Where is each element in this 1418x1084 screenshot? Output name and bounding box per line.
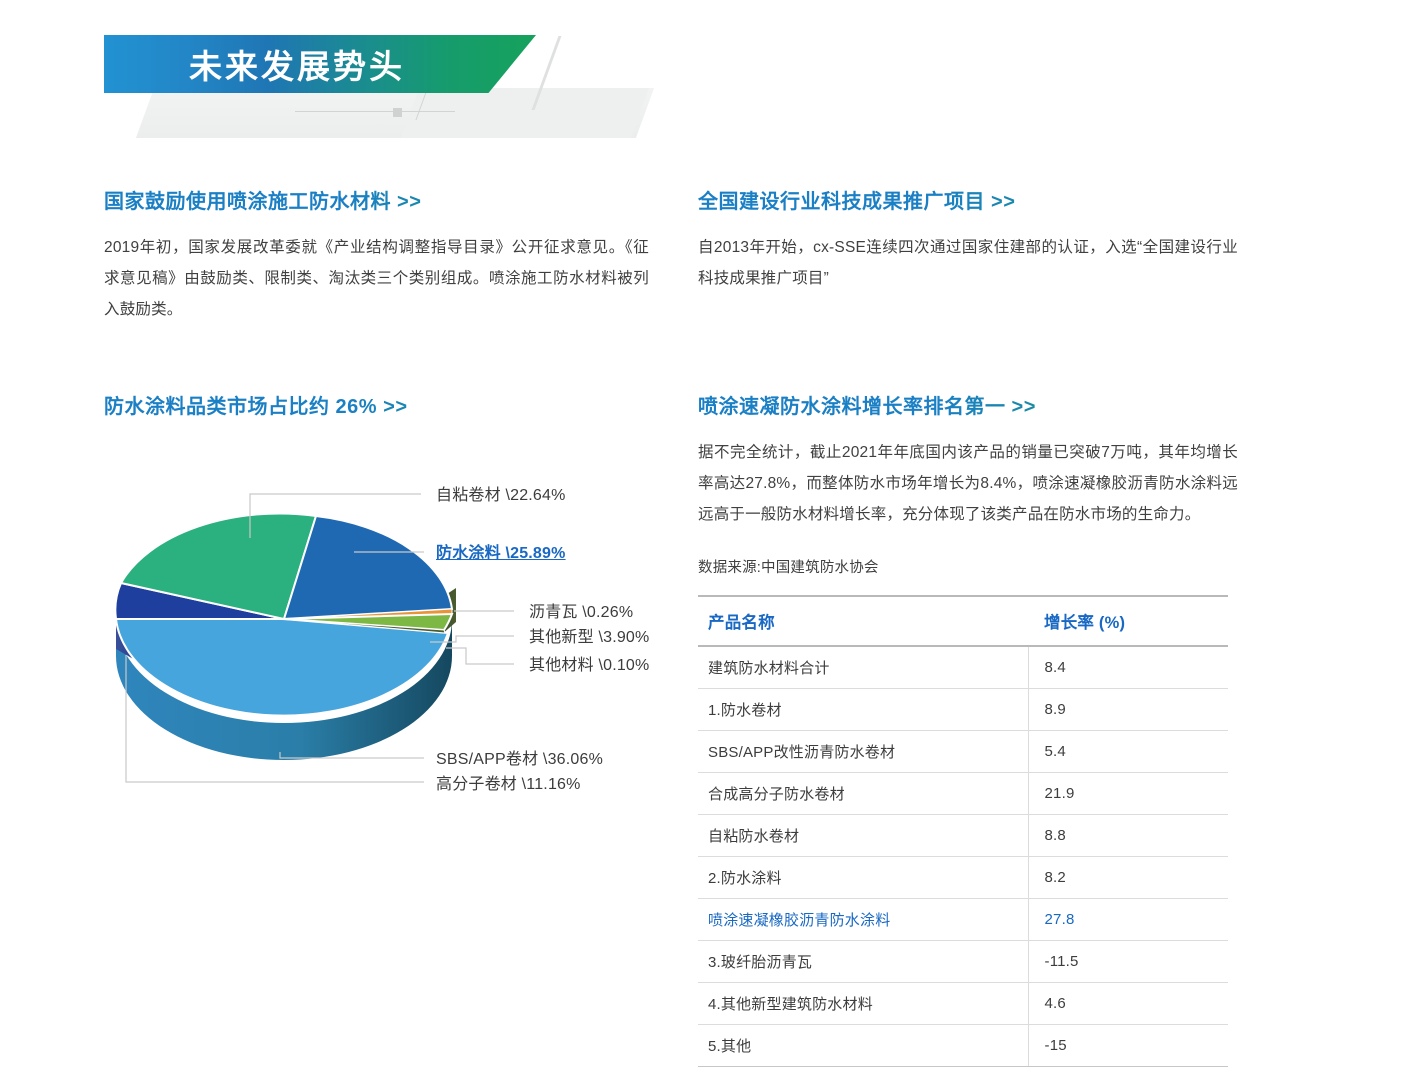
section-title-promotion-program[interactable]: 全国建设行业科技成果推广项目 >> <box>698 185 1238 214</box>
section-title-national-encouragement[interactable]: 国家鼓励使用喷涂施工防水材料 >> <box>104 185 649 214</box>
section-title-market-share[interactable]: 防水涂料品类市场占比约 26% >> <box>104 390 649 419</box>
cell-growth-rate: -11.5 <box>1028 941 1228 983</box>
cell-growth-rate: 8.4 <box>1028 646 1228 689</box>
table-row: 合成高分子防水卷材 21.9 <box>698 773 1228 815</box>
page-header-banner: 未来发展势头 <box>0 0 1418 160</box>
table-body: 建筑防水材料合计 8.4 1.防水卷材 8.9 SBS/APP改性沥青防水卷材 … <box>698 646 1228 1067</box>
cell-growth-rate: 21.9 <box>1028 773 1228 815</box>
banner-backdrop-shape-secondary <box>401 88 649 138</box>
leader-line-other-material <box>446 648 514 664</box>
cell-growth-rate: 5.4 <box>1028 731 1228 773</box>
banner-decor-line <box>295 111 455 112</box>
table-row: 4.其他新型建筑防水材料 4.6 <box>698 983 1228 1025</box>
pie-label-other-new: 其他新型 \3.90% <box>529 623 649 647</box>
section-market-share: 防水涂料品类市场占比约 26% >> <box>104 390 649 419</box>
growth-rate-table: 产品名称 增长率 (%) 建筑防水材料合计 8.4 1.防水卷材 8.9 SBS… <box>698 595 1228 1067</box>
cell-product-name: 合成高分子防水卷材 <box>698 773 1028 815</box>
section-title-growth-rate-ranking[interactable]: 喷涂速凝防水涂料增长率排名第一 >> <box>698 390 1238 419</box>
table-header-growth-rate: 增长率 (%) <box>1028 596 1228 646</box>
cell-growth-rate: 4.6 <box>1028 983 1228 1025</box>
section-body-growth-rate-ranking: 据不完全统计，截止2021年年底国内该产品的销量已突破7万吨，其年均增长率高达2… <box>698 437 1238 530</box>
table-row: 5.其他 -15 <box>698 1025 1228 1067</box>
table-row: 1.防水卷材 8.9 <box>698 689 1228 731</box>
table-header-row: 产品名称 增长率 (%) <box>698 596 1228 646</box>
table-row: 2.防水涂料 8.2 <box>698 857 1228 899</box>
page-title: 未来发展势头 <box>104 35 536 93</box>
cell-product-name: 建筑防水材料合计 <box>698 646 1028 689</box>
table-row: 建筑防水材料合计 8.4 <box>698 646 1228 689</box>
cell-product-name: 1.防水卷材 <box>698 689 1028 731</box>
table-row: 3.玻纤胎沥青瓦 -11.5 <box>698 941 1228 983</box>
table-row-highlighted: 喷涂速凝橡胶沥青防水涂料 27.8 <box>698 899 1228 941</box>
banner-decor-square <box>393 108 402 117</box>
section-national-promotion-program: 全国建设行业科技成果推广项目 >> 自2013年开始，cx-SSE连续四次通过国… <box>698 185 1238 294</box>
table-header-product-name: 产品名称 <box>698 596 1028 646</box>
section-national-encouragement: 国家鼓励使用喷涂施工防水材料 >> 2019年初，国家发展改革委就《产业结构调整… <box>104 185 649 325</box>
cell-growth-rate: 27.8 <box>1028 899 1228 941</box>
cell-growth-rate: 8.8 <box>1028 815 1228 857</box>
section-body-promotion-program: 自2013年开始，cx-SSE连续四次通过国家住建部的认证，入选“全国建设行业科… <box>698 232 1238 294</box>
table-row: SBS/APP改性沥青防水卷材 5.4 <box>698 731 1228 773</box>
pie-label-polymer: 高分子卷材 \11.16% <box>436 770 581 794</box>
cell-growth-rate: -15 <box>1028 1025 1228 1067</box>
section-growth-rate-ranking: 喷涂速凝防水涂料增长率排名第一 >> 据不完全统计，截止2021年年底国内该产品… <box>698 390 1238 1067</box>
cell-product-name: 4.其他新型建筑防水材料 <box>698 983 1028 1025</box>
pie-label-self-adhesive: 自粘卷材 \22.64% <box>436 481 566 505</box>
cell-product-name: 5.其他 <box>698 1025 1028 1067</box>
pie-label-waterproof-coating[interactable]: 防水涂料 \25.89% <box>436 539 566 563</box>
section-body-national-encouragement: 2019年初，国家发展改革委就《产业结构调整指导目录》公开征求意见。《征求意见稿… <box>104 232 649 325</box>
poster-page: 未来发展势头 国家鼓励使用喷涂施工防水材料 >> 2019年初，国家发展改革委就… <box>0 0 1418 1084</box>
cell-growth-rate: 8.2 <box>1028 857 1228 899</box>
cell-growth-rate: 8.9 <box>1028 689 1228 731</box>
pie-label-other-material: 其他材料 \0.10% <box>529 651 649 675</box>
cell-product-name: 喷涂速凝橡胶沥青防水涂料 <box>698 899 1028 941</box>
cell-product-name: SBS/APP改性沥青防水卷材 <box>698 731 1028 773</box>
pie-label-sbs-app: SBS/APP卷材 \36.06% <box>436 745 603 769</box>
table-row: 自粘防水卷材 8.8 <box>698 815 1228 857</box>
data-source-note: 数据来源:中国建筑防水协会 <box>698 556 1238 577</box>
market-share-pie-chart: 自粘卷材 \22.64% 防水涂料 \25.89% 沥青瓦 \0.26% 其他新… <box>104 470 664 830</box>
pie-label-asphalt-shingle: 沥青瓦 \0.26% <box>529 598 633 622</box>
cell-product-name: 2.防水涂料 <box>698 857 1028 899</box>
cell-product-name: 3.玻纤胎沥青瓦 <box>698 941 1028 983</box>
cell-product-name: 自粘防水卷材 <box>698 815 1028 857</box>
